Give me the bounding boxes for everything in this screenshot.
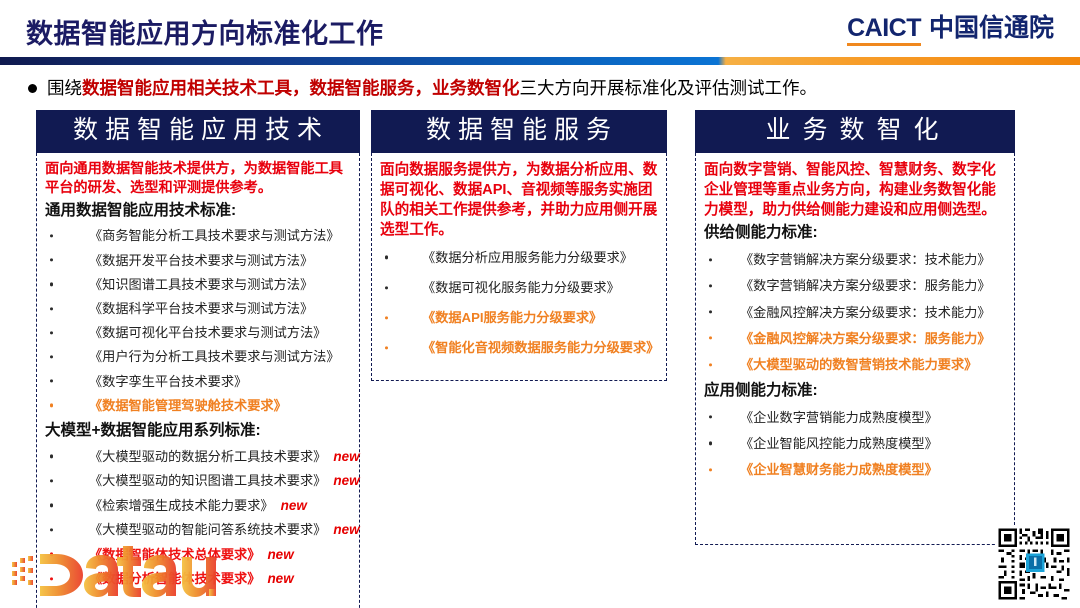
standard-name: 《企业智慧财务能力成熟度模型》 xyxy=(740,462,938,477)
card-data-intelligence-technology: 数据智能应用技术 面向通用数据智能技术提供方，为数据智能工具平台的研发、选型和评… xyxy=(36,110,360,608)
standards-list-svc: 《数据分析应用服务能力分级要求》 《数据可视化服务能力分级要求》 《数据API服… xyxy=(380,242,658,363)
standard-name: 《数字营销解决方案分级要求：技术能力》 xyxy=(740,252,991,267)
slide-canvas: 数据智能应用方向标准化工作 CAICT 中国信通院 围绕数据智能应用相关技术工具… xyxy=(0,0,1080,608)
page-title: 数据智能应用方向标准化工作 xyxy=(26,12,384,51)
list-item[interactable]: 《智能化音视频数据服务能力分级要求》 xyxy=(380,333,658,363)
list-item[interactable]: 《数字营销解决方案分级要求：服务能力》 xyxy=(704,273,1006,299)
card-body-biz: 面向数字营销、智能风控、智慧财务、数字化企业管理等重点业务方向，构建业务数智化能… xyxy=(695,153,1015,545)
list-item[interactable]: 《商务智能分析工具技术要求与测试方法》 xyxy=(45,224,351,248)
list-item[interactable]: 《数字孪生平台技术要求》 xyxy=(45,369,351,393)
standard-name: 《知识图谱工具技术要求与测试方法》 xyxy=(89,277,313,292)
card-body-tech: 面向通用数据智能技术提供方，为数据智能工具平台的研发、选型和评测提供参考。 通用… xyxy=(36,153,360,608)
standard-name: 《数据分析智能体技术要求》 xyxy=(89,571,260,586)
standard-name: 《数字营销解决方案分级要求：服务能力》 xyxy=(740,278,991,293)
standard-name: 《数据分析应用服务能力分级要求》 xyxy=(422,250,633,265)
standard-name: 《大模型驱动的数据分析工具技术要求》 xyxy=(89,449,326,464)
standard-name: 《大模型驱动的数智营销技术能力要求》 xyxy=(740,357,977,372)
lead-highlight-3: 业务数智化 xyxy=(432,78,520,98)
lead-highlight-2: 数据智能服务， xyxy=(310,78,433,98)
list-item[interactable]: 《数据开发平台技术要求与测试方法》 xyxy=(45,248,351,272)
list-item[interactable]: 《数据智能体技术总体要求》new xyxy=(45,542,351,567)
standards-list-tech-1: 《商务智能分析工具技术要求与测试方法》 《数据开发平台技术要求与测试方法》 《知… xyxy=(45,224,351,418)
list-item[interactable]: 《数据可视化服务能力分级要求》 xyxy=(380,272,658,302)
list-item[interactable]: 《数据API服务能力分级要求》 xyxy=(380,303,658,333)
lead-prefix: 围绕 xyxy=(47,78,82,98)
standard-name: 《大模型驱动的知识图谱工具技术要求》 xyxy=(89,473,326,488)
lead-statement: 围绕数据智能应用相关技术工具，数据智能服务，业务数智化三大方向开展标准化及评估测… xyxy=(28,76,817,101)
new-badge: new xyxy=(333,522,359,537)
new-badge: new xyxy=(281,498,307,513)
list-item[interactable]: 《企业智能风控能力成熟度模型》 xyxy=(704,430,1006,456)
list-item[interactable]: 《数据分析应用服务能力分级要求》 xyxy=(380,242,658,272)
list-item[interactable]: 《金融风控解决方案分级要求：服务能力》 xyxy=(704,325,1006,351)
standard-name: 《智能化音视频数据服务能力分级要求》 xyxy=(422,340,659,355)
standard-name: 《金融风控解决方案分级要求：服务能力》 xyxy=(740,331,991,346)
header-divider xyxy=(0,57,1080,65)
standard-name: 《大模型驱动的智能问答系统技术要求》 xyxy=(89,522,326,537)
caict-logo: CAICT 中国信通院 xyxy=(847,16,1054,46)
standard-name: 《数据科学平台技术要求与测试方法》 xyxy=(89,301,313,316)
standard-name: 《金融风控解决方案分级要求：技术能力》 xyxy=(740,305,991,320)
new-badge: new xyxy=(333,449,359,464)
standards-list-tech-2: 《大模型驱动的数据分析工具技术要求》new 《大模型驱动的知识图谱工具技术要求》… xyxy=(45,444,351,591)
standard-name: 《商务智能分析工具技术要求与测试方法》 xyxy=(89,228,340,243)
card-title-tech: 数据智能应用技术 xyxy=(36,110,360,153)
standard-name: 《检索增强生成技术能力要求》 xyxy=(89,498,274,513)
standard-name: 《数据可视化平台技术要求与测试方法》 xyxy=(89,325,326,340)
list-item[interactable]: 《大模型驱动的数据分析工具技术要求》new xyxy=(45,444,351,469)
standard-name: 《数据API服务能力分级要求》 xyxy=(422,310,602,325)
bullet-dot-icon xyxy=(28,84,37,93)
standard-name: 《企业数字营销能力成熟度模型》 xyxy=(740,410,938,425)
card-business-digital-intelligence: 业务数智化 面向数字营销、智能风控、智慧财务、数字化企业管理等重点业务方向，构建… xyxy=(695,110,1015,545)
caict-chinese-name: 中国信通院 xyxy=(929,16,1054,46)
list-item[interactable]: 《数据分析智能体技术要求》new xyxy=(45,567,351,592)
standard-name: 《数据可视化服务能力分级要求》 xyxy=(422,280,620,295)
list-item[interactable]: 《企业数字营销能力成熟度模型》 xyxy=(704,404,1006,430)
list-item[interactable]: 《数据智能管理驾驶舱技术要求》 xyxy=(45,393,351,417)
section-subhead-biz-2: 应用侧能力标准: xyxy=(704,380,1006,402)
list-item[interactable]: 《数据科学平台技术要求与测试方法》 xyxy=(45,297,351,321)
standard-name: 《数字孪生平台技术要求》 xyxy=(89,374,247,389)
list-item[interactable]: 《企业智慧财务能力成熟度模型》 xyxy=(704,456,1006,482)
caict-wordmark: CAICT xyxy=(847,16,921,46)
card-intro-biz: 面向数字营销、智能风控、智慧财务、数字化企业管理等重点业务方向，构建业务数智化能… xyxy=(704,160,1006,220)
standard-name: 《数据智能管理驾驶舱技术要求》 xyxy=(89,398,287,413)
lead-highlight-1: 数据智能应用相关技术工具， xyxy=(82,78,310,98)
new-badge: new xyxy=(333,473,359,488)
qr-code[interactable] xyxy=(996,526,1072,602)
list-item[interactable]: 《大模型驱动的知识图谱工具技术要求》new xyxy=(45,469,351,494)
new-badge: new xyxy=(267,571,293,586)
standard-name: 《数据智能体技术总体要求》 xyxy=(89,547,260,562)
card-title-svc: 数据智能服务 xyxy=(371,110,667,153)
list-item[interactable]: 《金融风控解决方案分级要求：技术能力》 xyxy=(704,299,1006,325)
section-subhead-tech-1: 通用数据智能应用技术标准: xyxy=(45,200,351,222)
standards-list-biz-1: 《数字营销解决方案分级要求：技术能力》 《数字营销解决方案分级要求：服务能力》 … xyxy=(704,247,1006,378)
standard-name: 《企业智能风控能力成熟度模型》 xyxy=(740,436,938,451)
lead-text: 围绕数据智能应用相关技术工具，数据智能服务，业务数智化三大方向开展标准化及评估测… xyxy=(47,76,817,101)
section-subhead-biz-1: 供给侧能力标准: xyxy=(704,222,1006,244)
card-data-intelligence-service: 数据智能服务 面向数据服务提供方，为数据分析应用、数据可视化、数据API、音视频… xyxy=(371,110,667,381)
list-item[interactable]: 《检索增强生成技术能力要求》new xyxy=(45,493,351,518)
standard-name: 《用户行为分析工具技术要求与测试方法》 xyxy=(89,349,340,364)
list-item[interactable]: 《知识图谱工具技术要求与测试方法》 xyxy=(45,272,351,296)
card-title-biz: 业务数智化 xyxy=(695,110,1015,153)
card-intro-svc: 面向数据服务提供方，为数据分析应用、数据可视化、数据API、音视频等服务实施团队… xyxy=(380,160,658,241)
list-item[interactable]: 《大模型驱动的数智营销技术能力要求》 xyxy=(704,351,1006,377)
card-intro-tech: 面向通用数据智能技术提供方，为数据智能工具平台的研发、选型和评测提供参考。 xyxy=(45,160,351,198)
standards-list-biz-2: 《企业数字营销能力成熟度模型》 《企业智能风控能力成熟度模型》 《企业智慧财务能… xyxy=(704,404,1006,483)
section-subhead-tech-2: 大模型+数据智能应用系列标准: xyxy=(45,420,351,442)
standard-name: 《数据开发平台技术要求与测试方法》 xyxy=(89,253,313,268)
list-item[interactable]: 《数据可视化平台技术要求与测试方法》 xyxy=(45,321,351,345)
list-item[interactable]: 《数字营销解决方案分级要求：技术能力》 xyxy=(704,247,1006,273)
card-body-svc: 面向数据服务提供方，为数据分析应用、数据可视化、数据API、音视频等服务实施团队… xyxy=(371,153,667,381)
list-item[interactable]: 《大模型驱动的智能问答系统技术要求》new xyxy=(45,518,351,543)
list-item[interactable]: 《用户行为分析工具技术要求与测试方法》 xyxy=(45,345,351,369)
lead-suffix: 三大方向开展标准化及评估测试工作。 xyxy=(520,78,818,98)
new-badge: new xyxy=(267,547,293,562)
